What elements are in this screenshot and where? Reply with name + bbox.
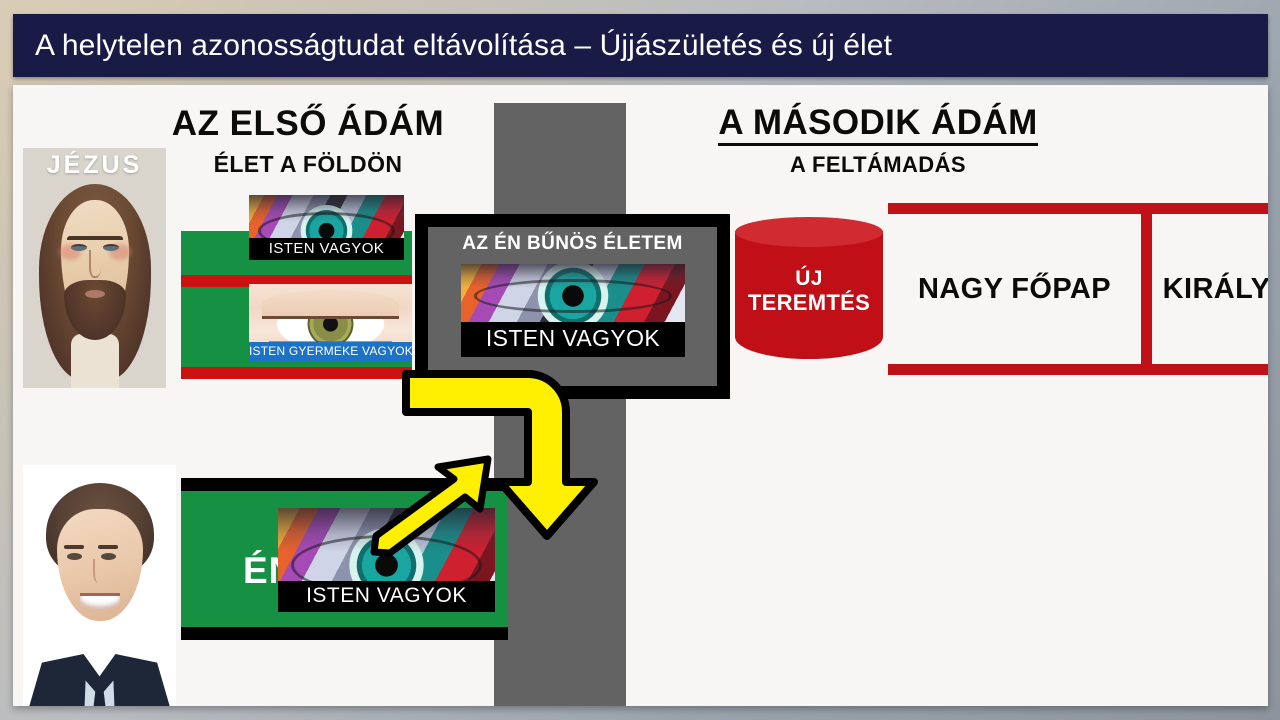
red-band-2 [181, 367, 412, 379]
jesus-label: JÉZUS [23, 151, 166, 180]
new-creation-cylinder: ÚJ TEREMTÉS [735, 217, 883, 373]
role-label-high-priest: NAGY FŐPAP [888, 203, 1141, 375]
eye-caption-isten-vagyok-bottom: ISTEN VAGYOK [278, 581, 495, 612]
jesus-nose [89, 250, 101, 278]
cylinder-label: ÚJ TEREMTÉS [735, 267, 883, 315]
sinful-life-caption: ISTEN VAGYOK [461, 322, 685, 357]
ibeam-divider [1141, 214, 1152, 364]
jesus-portrait-card: JÉZUS [23, 148, 166, 388]
man-brow-left [64, 545, 84, 549]
first-adam-subheading: ÉLET A FÖLDÖN [153, 151, 463, 178]
self-block-bottom-bar [181, 627, 508, 640]
first-adam-heading: AZ ELSŐ ÁDÁM [153, 104, 463, 144]
man-brow-right [98, 545, 118, 549]
eye-caption-isten-gyermeke-vagyok: ISTEN GYERMEKE VAGYOK [249, 342, 412, 361]
role-label-king: KIRÁLY [1152, 203, 1268, 375]
eye-caption-isten-vagyok: ISTEN VAGYOK [249, 238, 404, 260]
jesus-neck [71, 334, 119, 388]
eye-image-isten-gyermeke-vagyok: ISTEN GYERMEKE VAGYOK [249, 284, 412, 361]
cylinder-label-line1: ÚJ [735, 267, 883, 291]
sinful-life-title: AZ ÉN BŰNÖS ÉLETEM [428, 233, 717, 255]
slide-title: A helytelen azonosságtudat eltávolítása … [35, 29, 892, 63]
jesus-eye-left [71, 244, 87, 251]
slide: A helytelen azonosságtudat eltávolítása … [13, 14, 1268, 706]
slide-canvas: AZ ELSŐ ÁDÁM ÉLET A FÖLDÖN A MÁSODIK ÁDÁ… [13, 85, 1268, 706]
man-smile [80, 593, 120, 609]
second-adam-heading: A MÁSODIK ÁDÁM [668, 103, 1088, 143]
eye-image-sinful-life [461, 264, 685, 322]
man-nose [93, 559, 107, 583]
second-adam-subheading: A FELTÁMADÁS [668, 152, 1088, 178]
jesus-brow [67, 236, 123, 240]
cylinder-top-ellipse [735, 217, 883, 247]
man-eye-left [67, 553, 82, 560]
slide-title-bar: A helytelen azonosságtudat eltávolítása … [13, 14, 1268, 77]
jesus-mouth [85, 290, 105, 298]
roles-ibeam: NAGY FŐPAP KIRÁLY [888, 203, 1268, 375]
man-portrait-card [23, 465, 176, 706]
second-adam-heading-text: A MÁSODIK ÁDÁM [718, 103, 1037, 146]
cylinder-label-line2: TEREMTÉS [735, 291, 883, 316]
colorful-eye-graphic [461, 264, 685, 322]
yellow-hook-arrow-icon [396, 362, 611, 547]
jesus-eye-right [103, 244, 119, 251]
eye-image-isten-vagyok-top: ISTEN VAGYOK [249, 195, 404, 260]
